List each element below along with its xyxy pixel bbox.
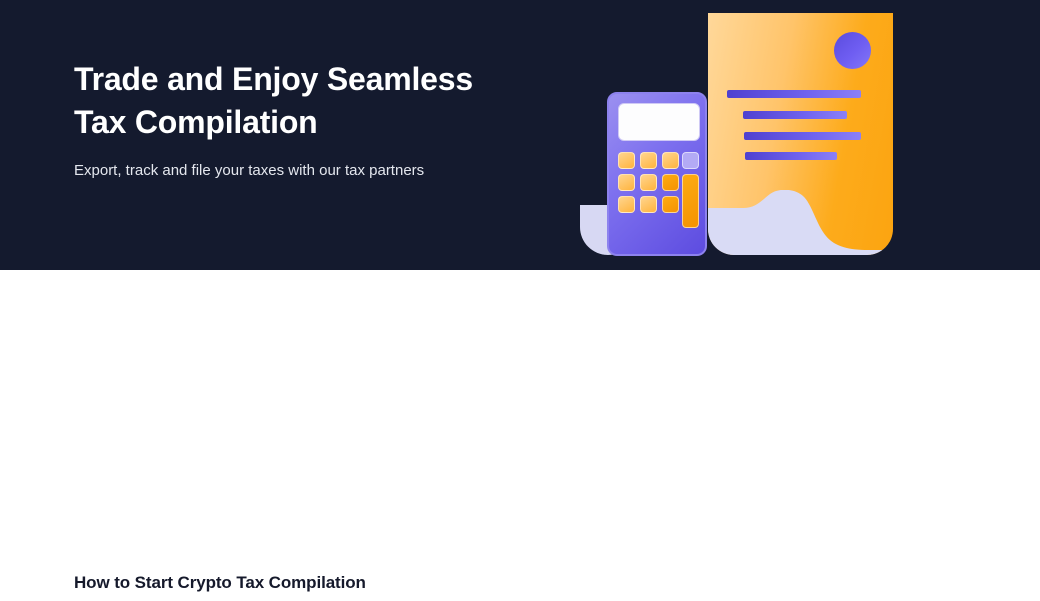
calculator-key (682, 152, 699, 169)
hero-copy: Trade and Enjoy Seamless Tax Compilation… (74, 58, 544, 182)
calculator-key (618, 152, 635, 169)
calculator-keypad (618, 152, 700, 248)
calculator-key (640, 152, 657, 169)
calculator-key (640, 174, 657, 191)
calculator-key (662, 152, 679, 169)
calculator-key (662, 196, 679, 213)
document-text-line-icon (744, 132, 861, 140)
document-text-line-icon (727, 90, 861, 98)
hero-title: Trade and Enjoy Seamless Tax Compilation (74, 58, 544, 143)
calculator-display (618, 103, 700, 141)
calculator-key (662, 174, 679, 191)
wave-shape-icon (708, 190, 893, 255)
hero-title-line-2: Tax Compilation (74, 101, 544, 144)
calculator-key (618, 196, 635, 213)
calculator-equals-key (682, 174, 699, 228)
tax-document-calculator-illustration (560, 0, 960, 270)
hero-subtitle: Export, track and file your taxes with o… (74, 159, 454, 182)
page-title: How to Start Crypto Tax Compilation (74, 573, 366, 593)
calculator-key (618, 174, 635, 191)
hero-banner: Trade and Enjoy Seamless Tax Compilation… (0, 0, 1040, 270)
calculator-key (640, 196, 657, 213)
document-text-line-icon (743, 111, 847, 119)
stamp-circle-icon (834, 32, 871, 69)
main-content: How to Start Crypto Tax Compilation 1 Se… (0, 270, 1040, 601)
hero-title-line-1: Trade and Enjoy Seamless (74, 58, 544, 101)
calculator-icon (607, 92, 707, 256)
document-text-line-icon (745, 152, 837, 160)
